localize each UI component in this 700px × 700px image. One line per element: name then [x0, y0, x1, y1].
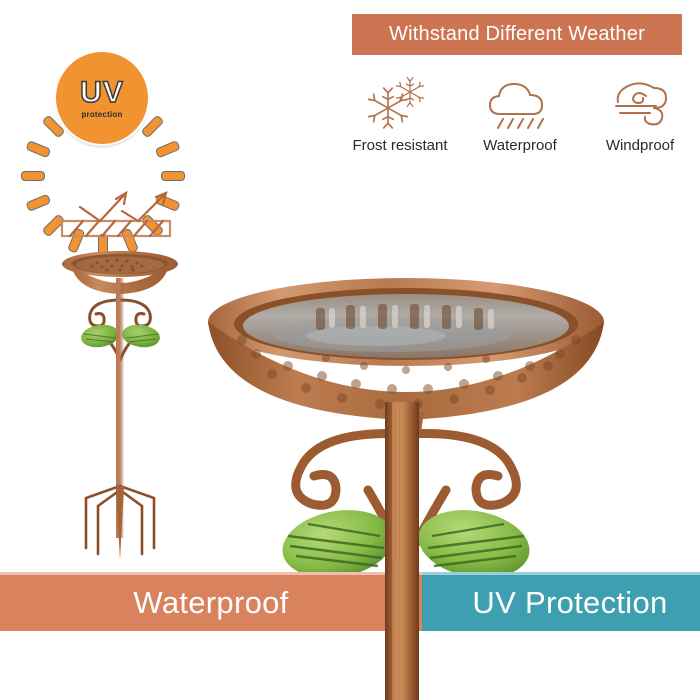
sun-ray — [161, 171, 185, 181]
weather-feature-frost-label: Frost resistant — [352, 137, 447, 154]
sun-ray — [21, 171, 45, 181]
weather-feature-windproof: Windproof — [580, 62, 700, 154]
weather-feature-frost: Frost resistant — [340, 62, 460, 154]
weather-feature-windproof-label: Windproof — [606, 137, 674, 154]
weather-feature-waterproof-label: Waterproof — [483, 137, 557, 154]
banner-waterproof: Waterproof — [0, 572, 422, 631]
birdbath-full-stake-photo — [52, 248, 188, 570]
sun-ray — [25, 194, 51, 212]
banner-waterproof-label: Waterproof — [133, 585, 288, 621]
sun-ray — [140, 114, 164, 138]
header-banner: Withstand Different Weather — [352, 14, 682, 55]
uv-reflection-surface-icon — [56, 183, 176, 243]
pole-foreground-segment — [385, 560, 419, 700]
uv-badge-title: UV — [80, 78, 124, 108]
sun-ray — [25, 140, 51, 158]
sun-ray — [155, 140, 181, 158]
uv-badge-subtitle: protection — [81, 110, 122, 119]
weather-feature-waterproof: Waterproof — [460, 62, 580, 154]
uv-protection-badge: UV protection — [18, 14, 186, 182]
snowflake-icon — [364, 75, 436, 133]
product-feature-image: UV protection — [0, 0, 700, 700]
uv-badge-circle: UV protection — [56, 52, 148, 144]
wind-icon — [604, 75, 676, 133]
rain-cloud-icon — [484, 75, 556, 133]
weather-feature-row: Frost resistant Waterproof — [340, 62, 700, 154]
banner-uv-protection-label: UV Protection — [454, 585, 667, 621]
header-title: Withstand Different Weather — [389, 23, 645, 46]
banner-uv-protection: UV Protection — [422, 572, 700, 631]
